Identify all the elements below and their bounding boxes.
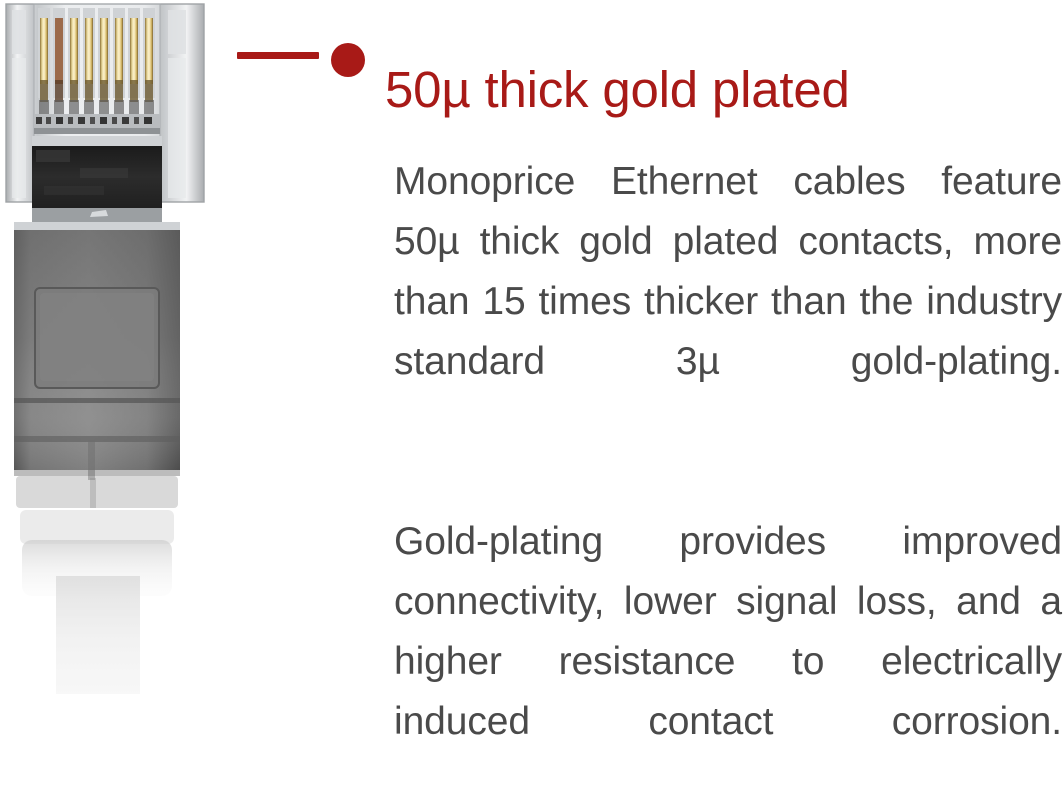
strain-relief-boot [14, 222, 180, 544]
rj45-connector-illustration [0, 0, 232, 694]
description-paragraph-2: Gold-plating provides improved connectiv… [394, 512, 1062, 812]
feature-content-column: 50µ thick gold plated Monoprice Ethernet… [236, 0, 1063, 694]
ethernet-cable [22, 540, 172, 694]
rj45-connector-image [0, 0, 232, 694]
feature-description: Monoprice Ethernet cables feature 50µ th… [394, 152, 1062, 812]
description-paragraph-1: Monoprice Ethernet cables feature 50µ th… [394, 152, 1062, 452]
red-dot-bullet-icon [331, 43, 365, 77]
connector-window [32, 136, 162, 222]
feature-heading: 50µ thick gold plated [385, 58, 850, 122]
red-leader-line-icon [237, 52, 319, 59]
contact-seating-band [34, 114, 160, 134]
feature-heading-row: 50µ thick gold plated [236, 24, 1063, 94]
